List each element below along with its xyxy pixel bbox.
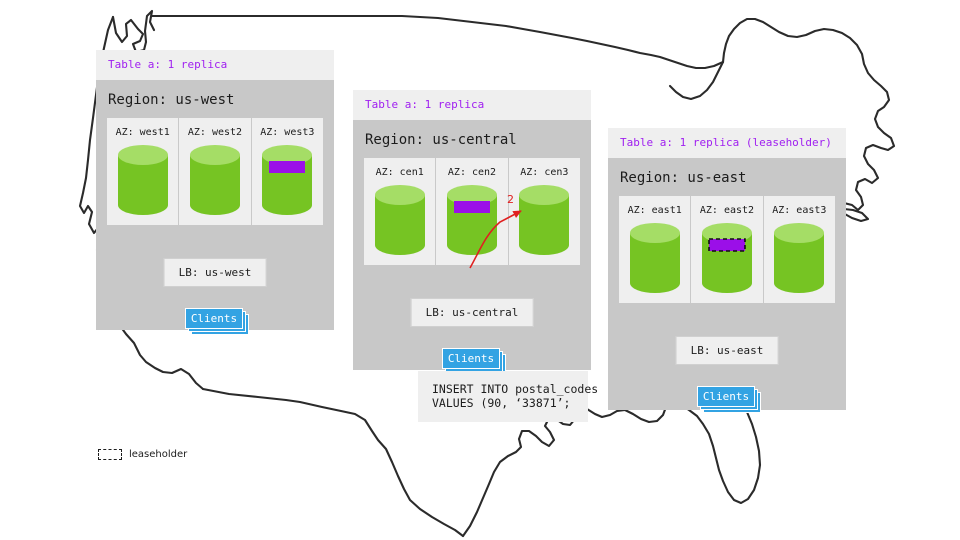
diagram-canvas: Table a: 1 replica Region: us-west AZ: w… bbox=[0, 0, 960, 540]
region-label-us-east: Region: us-east bbox=[608, 158, 846, 196]
az-cell-west2[interactable]: AZ: west2 bbox=[179, 118, 251, 225]
legend-label: leaseholder bbox=[129, 449, 187, 460]
leaseholder-swatch-icon bbox=[98, 449, 122, 460]
panel-body-us-west: Region: us-west AZ: west1 AZ: west2 bbox=[96, 80, 334, 330]
az-cell-west1[interactable]: AZ: west1 bbox=[107, 118, 179, 225]
region-label-us-central: Region: us-central bbox=[353, 120, 591, 158]
cylinder-west2[interactable] bbox=[179, 144, 250, 234]
az-label-east3: AZ: east3 bbox=[764, 196, 835, 222]
arrow-step-number: 2 bbox=[507, 193, 514, 206]
az-cell-west3[interactable]: AZ: west3 bbox=[252, 118, 323, 225]
az-cell-east2[interactable]: AZ: east2 bbox=[691, 196, 763, 303]
region-panel-us-west: Table a: 1 replica Region: us-west AZ: w… bbox=[96, 50, 334, 330]
region-panel-us-east: Table a: 1 replica (leaseholder) Region:… bbox=[608, 128, 846, 410]
az-cell-cen2[interactable]: AZ: cen2 bbox=[436, 158, 508, 265]
az-row-us-east: AZ: east1 AZ: east2 bbox=[619, 196, 835, 303]
az-label-cen2: AZ: cen2 bbox=[436, 158, 507, 184]
sql-statement-box: INSERT INTO postal_codes VALUES (90, ‘33… bbox=[418, 371, 588, 422]
az-cell-east3[interactable]: AZ: east3 bbox=[764, 196, 835, 303]
region-label-us-west: Region: us-west bbox=[96, 80, 334, 118]
clients-button-us-east[interactable]: Clients bbox=[697, 386, 757, 408]
replica-block-east2 bbox=[709, 239, 745, 251]
load-balancer-us-central[interactable]: LB: us-central bbox=[411, 298, 534, 327]
load-balancer-us-west[interactable]: LB: us-west bbox=[164, 258, 267, 287]
az-row-us-west: AZ: west1 AZ: west2 bbox=[107, 118, 323, 225]
clients-button-us-west[interactable]: Clients bbox=[185, 308, 245, 330]
replica-block-cen2 bbox=[454, 201, 490, 213]
az-label-west1: AZ: west1 bbox=[107, 118, 178, 144]
load-balancer-us-east[interactable]: LB: us-east bbox=[676, 336, 779, 365]
clients-label-us-central[interactable]: Clients bbox=[442, 348, 500, 369]
cylinder-west3[interactable] bbox=[252, 144, 323, 234]
panel-title-us-east: Table a: 1 replica (leaseholder) bbox=[608, 128, 846, 158]
az-cell-east1[interactable]: AZ: east1 bbox=[619, 196, 691, 303]
clients-label-us-east[interactable]: Clients bbox=[697, 386, 755, 407]
region-panel-us-central: Table a: 1 replica Region: us-central AZ… bbox=[353, 90, 591, 370]
panel-body-us-central: Region: us-central AZ: cen1 AZ: cen2 bbox=[353, 120, 591, 370]
az-label-cen1: AZ: cen1 bbox=[364, 158, 435, 184]
az-label-east1: AZ: east1 bbox=[619, 196, 690, 222]
az-label-west3: AZ: west3 bbox=[252, 118, 323, 144]
cylinder-cen1[interactable] bbox=[364, 184, 435, 274]
panel-title-us-west: Table a: 1 replica bbox=[96, 50, 334, 80]
cylinder-east2[interactable] bbox=[691, 222, 762, 312]
clients-button-us-central[interactable]: Clients bbox=[442, 348, 502, 370]
legend: leaseholder bbox=[98, 449, 187, 460]
clients-label-us-west[interactable]: Clients bbox=[185, 308, 243, 329]
az-label-cen3: AZ: cen3 bbox=[509, 158, 580, 184]
az-cell-cen3[interactable]: AZ: cen3 bbox=[509, 158, 580, 265]
panel-title-us-central: Table a: 1 replica bbox=[353, 90, 591, 120]
az-label-west2: AZ: west2 bbox=[179, 118, 250, 144]
cylinder-cen2[interactable] bbox=[436, 184, 507, 274]
az-row-us-central: AZ: cen1 AZ: cen2 bbox=[364, 158, 580, 265]
az-cell-cen1[interactable]: AZ: cen1 bbox=[364, 158, 436, 265]
replica-block-west3 bbox=[269, 161, 305, 173]
az-label-east2: AZ: east2 bbox=[691, 196, 762, 222]
cylinder-east3[interactable] bbox=[764, 222, 835, 312]
cylinder-cen3[interactable] bbox=[509, 184, 580, 274]
cylinder-west1[interactable] bbox=[107, 144, 178, 234]
cylinder-east1[interactable] bbox=[619, 222, 690, 312]
panel-body-us-east: Region: us-east AZ: east1 AZ: east2 bbox=[608, 158, 846, 410]
